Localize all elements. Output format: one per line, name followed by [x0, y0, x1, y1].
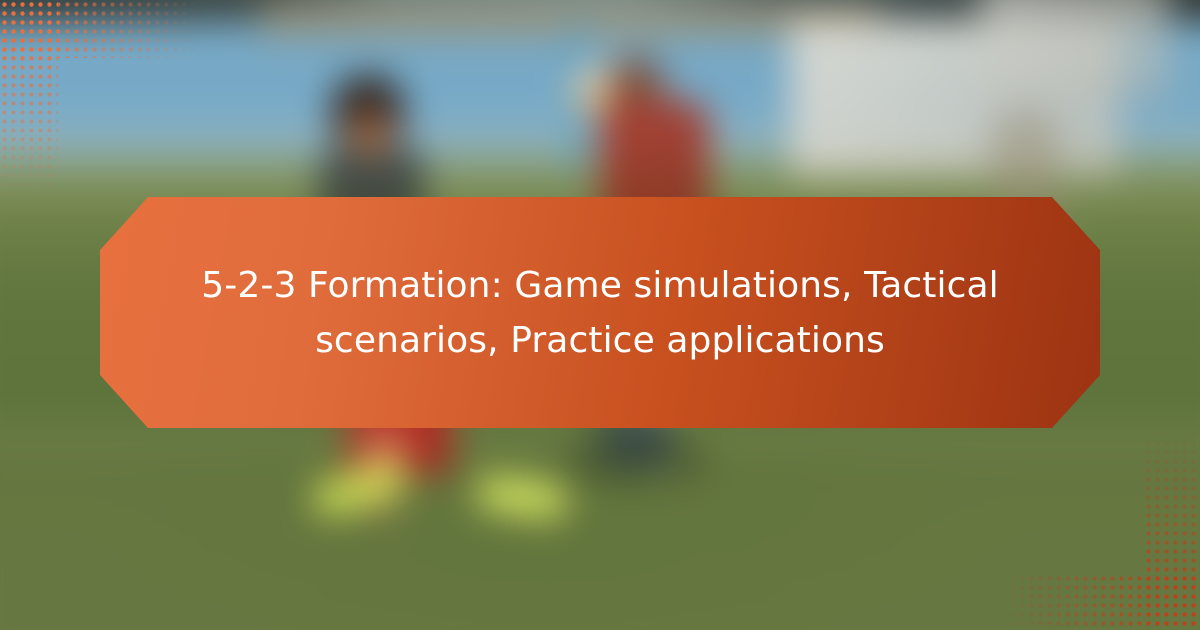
- concrete-block-upper: [980, 0, 1170, 100]
- title-banner: 5-2-3 Formation: Game simulations, Tacti…: [100, 197, 1100, 428]
- share-card-canvas: 5-2-3 Formation: Game simulations, Tacti…: [0, 0, 1200, 630]
- player-one-face: [346, 112, 394, 158]
- page-title: 5-2-3 Formation: Game simulations, Tacti…: [130, 258, 1070, 368]
